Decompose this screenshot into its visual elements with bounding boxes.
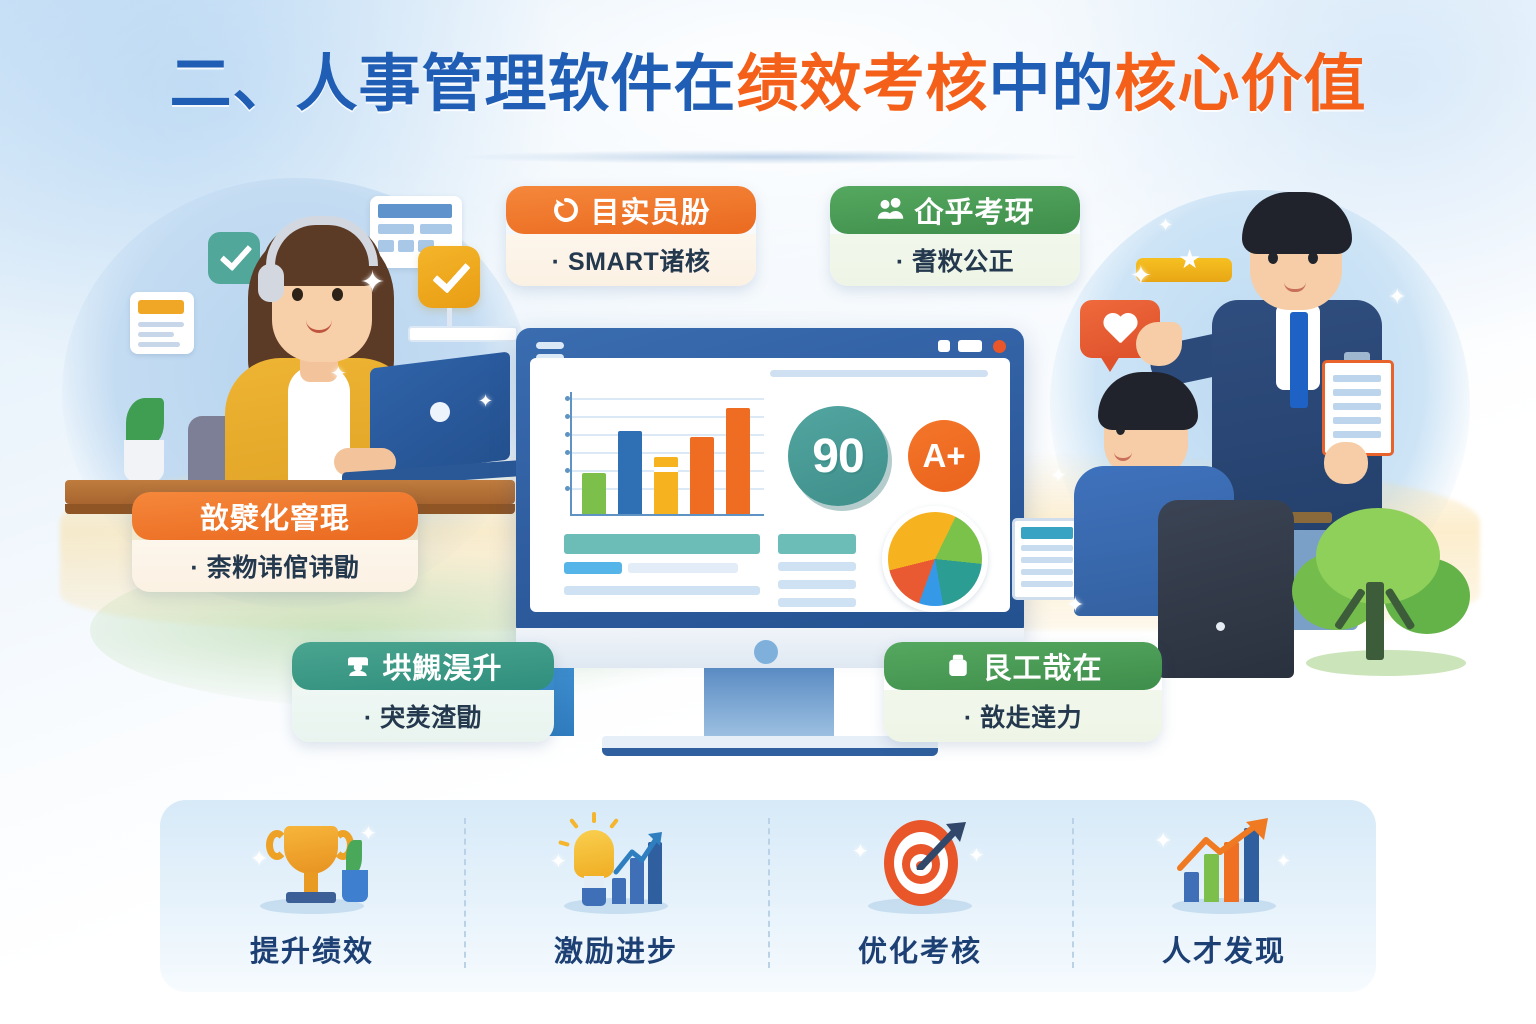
card-smart-assessment[interactable]: 目实员朌 · SMART诸核 (506, 186, 756, 286)
grade-badge: A+ (908, 420, 980, 492)
laptop-logo (430, 402, 450, 422)
score-value: 90 (812, 429, 863, 484)
infographic-canvas: 二、人事管理软件在绩效考核中的核心价值 (0, 0, 1536, 1024)
dashboard-text-line-3 (778, 580, 856, 589)
manager-hair (1242, 192, 1352, 254)
sparkle-icon: ✦ (1130, 262, 1152, 288)
monitor-frame: 90 A+ (516, 328, 1024, 640)
card-header: 敨㵨化窨琨 (132, 492, 418, 540)
refresh-cycle-icon (551, 195, 581, 225)
dashboard-pie-chart (882, 506, 988, 612)
star-icon: ★ (1178, 246, 1201, 272)
bar-series (582, 392, 764, 514)
sparkle-icon: ✦ (1158, 216, 1173, 234)
headset-earcup-icon (258, 264, 284, 302)
tree-shadow (1306, 650, 1466, 676)
page-title: 二、人事管理软件在绩效考核中的核心价值 (0, 52, 1536, 117)
sparkle-icon: ✦ (1066, 594, 1084, 616)
bar-growth-icon: ✦ ✦ (1154, 812, 1294, 916)
target-arrow-icon: ✦ ✦ (850, 812, 990, 916)
manager-eye-right (1308, 252, 1318, 264)
green-tree (1292, 508, 1472, 678)
benefit-label: 人才发现 (1162, 928, 1286, 970)
window-maximize-icon[interactable] (958, 340, 982, 352)
bar-5 (726, 408, 750, 514)
amber-check-stem (447, 308, 452, 328)
briefcase-icon (943, 651, 973, 681)
amber-check-icon (418, 246, 480, 308)
dashboard-row-bar-a (564, 534, 760, 554)
card-header: 目实员朌 (506, 186, 756, 234)
benefit-item-assessment[interactable]: ✦ ✦ 优化考核 (768, 800, 1072, 992)
heart-icon (1102, 314, 1138, 346)
benefits-strip: ✦ ✦ 提升绩效 ✦ (160, 800, 1376, 992)
card-fair-assessment[interactable]: 仚乎考玡 · 耆敉公正 (830, 186, 1080, 286)
manager-hand-gesture (1136, 322, 1182, 366)
window-minimize-icon[interactable] (938, 340, 950, 352)
trend-arrow-icon (612, 828, 666, 876)
card-body-label: · SMART诸核 (506, 234, 756, 286)
manager-tie (1290, 312, 1308, 408)
benefit-label: 激励进步 (554, 928, 678, 970)
dashboard-text-line-1 (564, 586, 760, 595)
sparkle-icon: ✦ (478, 392, 493, 410)
bar-2 (618, 431, 642, 514)
manager-hand-holding (1324, 442, 1368, 484)
bar-3 (654, 457, 678, 514)
card-header-label: 垬䲅淏升 (382, 645, 502, 687)
monitor-base-shadow (602, 748, 938, 756)
benefit-item-motivation[interactable]: ✦ 激励进步 (464, 800, 768, 992)
document-card-icon (130, 292, 194, 354)
benefit-item-performance[interactable]: ✦ ✦ 提升绩效 (160, 800, 464, 992)
woman-eye-right (332, 288, 343, 301)
card-header: 仚乎考玡 (830, 186, 1080, 234)
lightbulb-growth-icon: ✦ (546, 812, 686, 916)
bar-1 (582, 473, 606, 514)
sparkle-icon: ✦ (1388, 286, 1406, 308)
window-menu-icon (536, 342, 564, 349)
sparkle-icon: ✦ (360, 268, 385, 298)
amber-check-bar (408, 326, 518, 342)
card-header: 垬䲅淏升 (292, 642, 554, 690)
title-highlight-performance: 绩效考核 (736, 50, 988, 119)
woman-eye-left (292, 288, 303, 301)
arrow-dart-icon (916, 822, 968, 870)
card-header-label: 仚乎考玡 (914, 189, 1034, 231)
card-body-label: · 宊羙渣勖 (292, 690, 554, 742)
window-close-icon[interactable] (993, 340, 1006, 353)
sparkle-icon: ✦ (330, 364, 347, 384)
tree-trunk (1366, 582, 1384, 660)
benefit-label: 优化考核 (858, 928, 982, 970)
title-prefix: 二、人事管理软件在 (169, 50, 736, 119)
card-header: 艮工哉在 (884, 642, 1162, 690)
card-body-label: · 敨歨逹力 (884, 690, 1162, 742)
card-header-label: 艮工哉在 (982, 645, 1102, 687)
dashboard-text-line-4 (778, 598, 856, 607)
card-header-label: 目实员朌 (590, 189, 710, 231)
card-body-label: · 柰粅讳倌讳勖 (132, 540, 418, 592)
bar-4 (690, 437, 714, 514)
score-badge: 90 (788, 406, 888, 506)
employee-chair-detail (1216, 622, 1225, 631)
manager-employee-group: ★ (1040, 170, 1480, 670)
card-digital-display[interactable]: 敨㵨化窨琨 · 柰粅讳倌讳勖 (132, 492, 418, 592)
grade-value: A+ (922, 437, 965, 475)
sparkle-icon: ✦ (1050, 466, 1067, 486)
person-badge-icon (343, 651, 373, 681)
card-skill-improvement[interactable]: 垬䲅淏升 · 宊羙渣勖 (292, 642, 554, 742)
title-highlight-core-value: 核心价值 (1115, 50, 1367, 119)
desk-plant-pot (124, 440, 164, 482)
monitor-neck (704, 668, 834, 740)
two-people-icon (875, 195, 905, 225)
title-block: 二、人事管理软件在绩效考核中的核心价值 (0, 52, 1536, 117)
trend-arrow-icon (1176, 818, 1276, 874)
employee-chair (1158, 500, 1294, 678)
dashboard-row-bar-b (778, 534, 856, 554)
benefit-label: 提升绩效 (250, 928, 374, 970)
card-employee-growth[interactable]: 艮工哉在 · 敨歨逹力 (884, 642, 1162, 742)
employee-eye (1116, 424, 1125, 435)
card-body-label: · 耆敉公正 (830, 234, 1080, 286)
clipboard-icon (1322, 360, 1394, 456)
dashboard-screen: 90 A+ (530, 358, 1010, 612)
dashboard-bar-chart (564, 392, 764, 516)
manager-eye-left (1268, 252, 1278, 264)
dashboard-header-bar (770, 370, 988, 377)
trophy-icon: ✦ ✦ (242, 812, 382, 916)
illustration-scene: 90 A+ (0, 150, 1536, 800)
card-header-label: 敨㵨化窨琨 (200, 495, 350, 537)
monitor-camera-icon (754, 640, 778, 664)
title-middle: 中的 (989, 50, 1115, 119)
dashboard-text-line-2 (778, 562, 856, 571)
benefit-item-talent[interactable]: ✦ ✦ 人才发现 (1072, 800, 1376, 992)
dashboard-progress-fill (564, 562, 622, 574)
headset-band-icon (266, 216, 378, 266)
dashboard-progress-track (628, 563, 738, 573)
